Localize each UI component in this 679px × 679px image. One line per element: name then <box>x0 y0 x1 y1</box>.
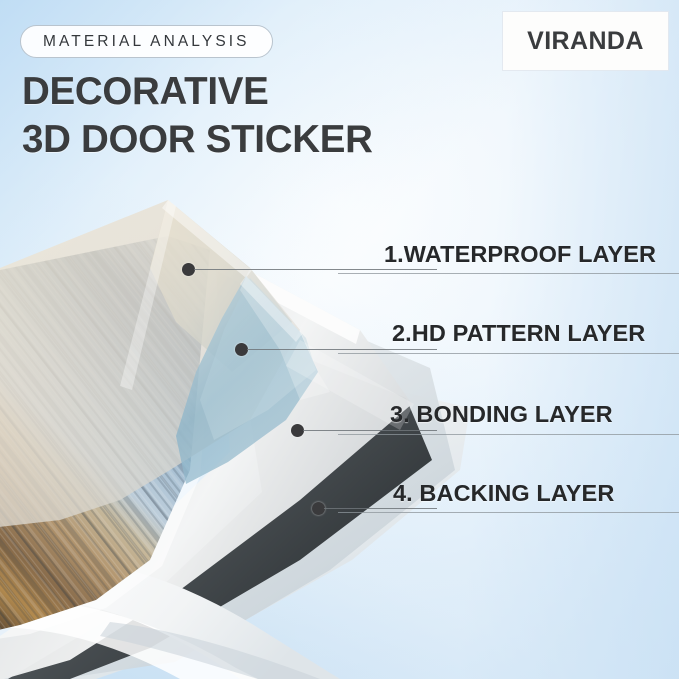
material-analysis-badge: MATERIAL ANALYSIS <box>20 25 273 58</box>
callout-underline-4 <box>338 512 679 513</box>
page-title-line-2: 3D DOOR STICKER <box>22 116 373 164</box>
brand-logo: VIRANDA <box>503 12 668 70</box>
callout-leader-1 <box>194 269 437 270</box>
callout-label-1: 1.WATERPROOF LAYER <box>384 241 656 268</box>
callout-underline-3 <box>338 434 679 435</box>
page-title: DECORATIVE 3D DOOR STICKER <box>22 68 373 164</box>
callout-label-2: 2.HD PATTERN LAYER <box>392 320 645 347</box>
poster-canvas: MATERIAL ANALYSIS DECORATIVE 3D DOOR STI… <box>0 0 679 679</box>
callout-leader-4 <box>324 508 437 509</box>
callout-label-3: 3. BONDING LAYER <box>390 401 613 428</box>
brand-logo-text: VIRANDA <box>527 27 644 56</box>
callout-underline-1 <box>338 273 679 274</box>
callout-underline-2 <box>338 353 679 354</box>
callout-leader-3 <box>303 430 437 431</box>
page-title-line-1: DECORATIVE <box>22 70 269 113</box>
callout-label-4: 4. BACKING LAYER <box>393 480 614 507</box>
callout-leader-2 <box>247 349 437 350</box>
